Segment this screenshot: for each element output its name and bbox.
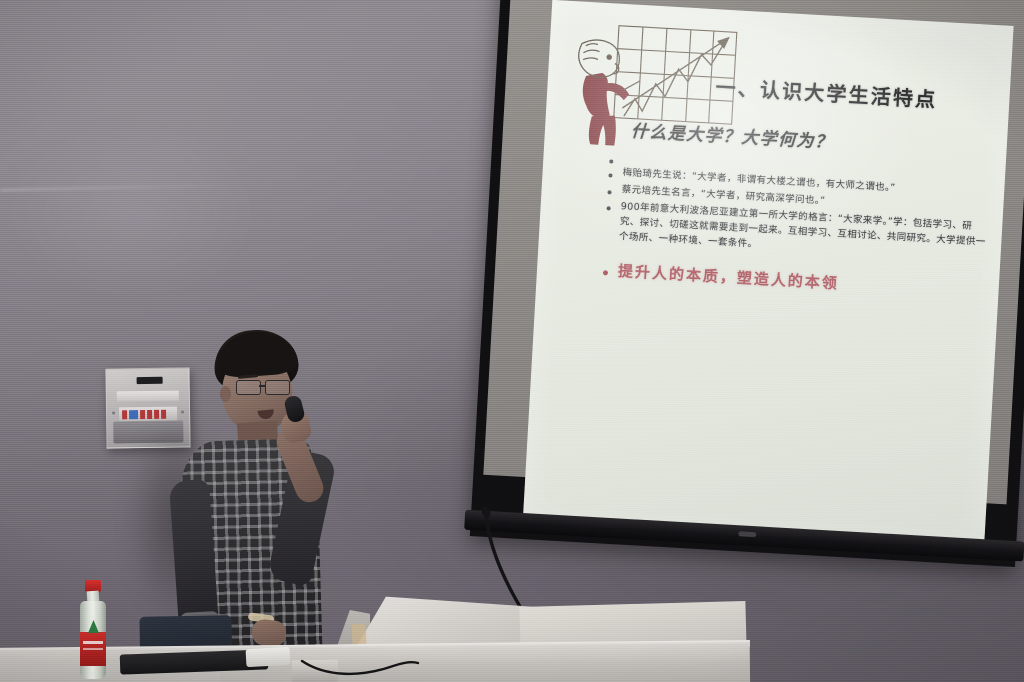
- bottle-label-text-line: [83, 641, 103, 644]
- glasses-icon: [236, 380, 294, 394]
- breaker-switch-main[interactable]: [129, 410, 138, 419]
- glasses-right-lens: [265, 380, 290, 395]
- breaker-switch[interactable]: [161, 409, 166, 418]
- slide-title: 一、认识大学生活特点: [715, 71, 966, 114]
- bullet-dot-icon: [609, 159, 613, 163]
- wall-stain: [0, 120, 330, 350]
- breaker-switch[interactable]: [122, 410, 127, 419]
- glasses-left-lens: [236, 380, 261, 395]
- panel-screw: [112, 411, 115, 414]
- breaker-switch[interactable]: [154, 409, 159, 418]
- breaker-switch[interactable]: [140, 410, 145, 419]
- slide-content: 一、认识大学生活特点 什么是大学？大学何为？ 梅贻琦先生说：“大学者，非谓有大楼…: [522, 0, 1013, 553]
- bullet-dot-icon: [608, 173, 612, 177]
- hair-top: [215, 329, 298, 378]
- breaker-switch[interactable]: [147, 409, 152, 418]
- bullet-dot-icon: [606, 207, 610, 211]
- bullet-text: [623, 152, 624, 163]
- ear: [220, 386, 231, 402]
- panel-strip: [117, 391, 179, 402]
- lecture-room-photo: 一、认识大学生活特点 什么是大学？大学何为？ 梅贻琦先生说：“大学者，非谓有大楼…: [0, 0, 1024, 682]
- left-hand: [251, 618, 288, 647]
- bullet-dot-icon: [603, 271, 608, 276]
- highlight-text: 提升人的本质，塑造人的本领: [617, 260, 839, 296]
- bottle-label-text-line: [83, 648, 103, 650]
- bottle-label: [80, 632, 106, 666]
- slide-bullet-list: 梅贻琦先生说：“大学者，非谓有大楼之谓也，有大师之谓也。” 蔡元培先生名言，“大…: [602, 151, 991, 306]
- desk-cable: [300, 655, 420, 681]
- lectern-tape-mark: [351, 624, 366, 645]
- projection-screen: 一、认识大学生活特点 什么是大学？大学何为？ 梅贻琦先生说：“大学者，非谓有大楼…: [470, 0, 1024, 567]
- panel-label-plate: [137, 377, 163, 384]
- glasses-bridge: [259, 385, 266, 387]
- list-item-highlight: 提升人的本质，塑造人的本领: [602, 260, 985, 305]
- projected-slide: 一、认识大学生活特点 什么是大学？大学何为？ 梅贻琦先生说：“大学者，非谓有大楼…: [522, 0, 1013, 553]
- white-desk-item[interactable]: [246, 647, 291, 667]
- water-bottle[interactable]: [78, 580, 108, 680]
- screen-pull-handle[interactable]: [739, 531, 757, 537]
- bullet-dot-icon: [607, 190, 611, 194]
